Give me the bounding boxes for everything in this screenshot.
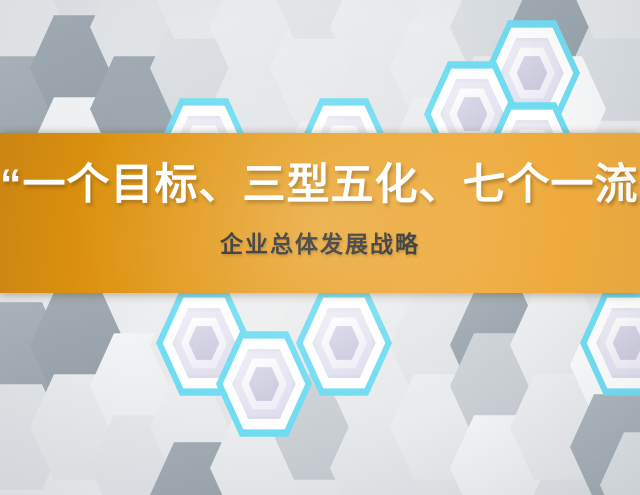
presentation-slide: “一个目标、三型五化、七个一流” 企业总体发展战略 [0,0,640,495]
title-banner: “一个目标、三型五化、七个一流” 企业总体发展战略 [0,133,640,293]
slide-subtitle: 企业总体发展战略 [0,230,640,258]
slide-title: “一个目标、三型五化、七个一流” [0,160,640,210]
